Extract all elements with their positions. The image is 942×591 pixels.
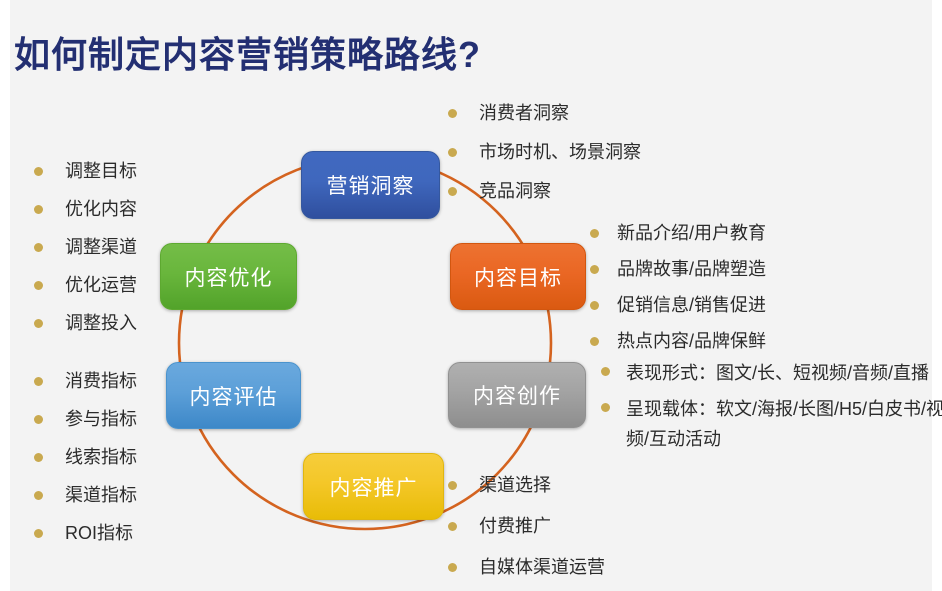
list-item: 线索指标 [34, 444, 137, 471]
list-item: 促销信息/销售促进 [590, 292, 766, 319]
list-marketing-insight: 消费者洞察 市场时机、场景洞察 竞品洞察 [448, 100, 641, 217]
list-item-label: 线索指标 [65, 444, 137, 471]
bullet-dot-icon [448, 522, 457, 531]
list-item: 自媒体渠道运营 [448, 554, 605, 581]
list-item: 热点内容/品牌保鲜 [590, 328, 766, 355]
list-item-label: 市场时机、场景洞察 [479, 139, 641, 166]
list-item-label: 热点内容/品牌保鲜 [617, 328, 766, 355]
list-item: ROI指标 [34, 520, 137, 547]
list-item-label: 渠道指标 [65, 482, 137, 509]
bullet-dot-icon [601, 367, 610, 376]
list-item: 呈现载体：软文/海报/长图/H5/白皮书/视频/互动活动 [601, 394, 942, 454]
list-content-creation: 表现形式：图文/长、短视频/音频/直播 呈现载体：软文/海报/长图/H5/白皮书… [601, 358, 942, 460]
list-item: 调整投入 [34, 310, 137, 337]
list-item: 市场时机、场景洞察 [448, 139, 641, 166]
bullet-dot-icon [601, 403, 610, 412]
left-edge-gutter [0, 0, 10, 591]
bullet-dot-icon [34, 377, 43, 386]
bullet-dot-icon [34, 529, 43, 538]
list-item-label: 调整目标 [65, 158, 137, 185]
list-item: 调整渠道 [34, 234, 137, 261]
node-label: 营销洞察 [327, 170, 415, 200]
node-label: 内容优化 [185, 262, 273, 292]
list-item-label: 促销信息/销售促进 [617, 292, 766, 319]
list-item-label: 优化内容 [65, 196, 137, 223]
list-item: 优化运营 [34, 272, 137, 299]
node-content-goal[interactable]: 内容目标 [450, 243, 586, 310]
list-item-label: 新品介绍/用户教育 [617, 220, 766, 247]
list-content-optimization: 调整目标 优化内容 调整渠道 优化运营 调整投入 [34, 158, 137, 348]
list-content-evaluation: 消费指标 参与指标 线索指标 渠道指标 ROI指标 [34, 368, 137, 558]
list-item-label: 优化运营 [65, 272, 137, 299]
bullet-dot-icon [590, 337, 599, 346]
list-item-label: 自媒体渠道运营 [479, 554, 605, 581]
list-item-label: 调整渠道 [65, 234, 137, 261]
list-item: 付费推广 [448, 513, 605, 540]
list-item-label: 参与指标 [65, 406, 137, 433]
page-title: 如何制定内容营销策略路线? [14, 26, 481, 78]
list-item: 竞品洞察 [448, 178, 641, 205]
list-item-label: 消费指标 [65, 368, 137, 395]
list-item-label: 表现形式：图文/长、短视频/音频/直播 [626, 358, 942, 388]
bullet-dot-icon [34, 415, 43, 424]
node-label: 内容推广 [330, 472, 418, 502]
right-edge-gutter [932, 0, 942, 591]
list-item-label: 付费推广 [479, 513, 551, 540]
list-item-label: 调整投入 [65, 310, 137, 337]
node-content-evaluation[interactable]: 内容评估 [166, 362, 301, 429]
list-item: 调整目标 [34, 158, 137, 185]
bullet-dot-icon [448, 481, 457, 490]
list-item: 消费者洞察 [448, 100, 641, 127]
list-item: 品牌故事/品牌塑造 [590, 256, 766, 283]
bullet-dot-icon [448, 563, 457, 572]
list-content-promotion: 渠道选择 付费推广 自媒体渠道运营 [448, 472, 605, 591]
list-item: 消费指标 [34, 368, 137, 395]
list-item: 渠道指标 [34, 482, 137, 509]
slide-canvas: 如何制定内容营销策略路线? 营销洞察 内容目标 内容创作 内容推广 内容评估 内… [0, 0, 942, 591]
node-label: 内容评估 [190, 381, 278, 411]
bullet-dot-icon [34, 491, 43, 500]
bullet-dot-icon [590, 301, 599, 310]
list-item-label: 品牌故事/品牌塑造 [617, 256, 766, 283]
bullet-dot-icon [590, 265, 599, 274]
list-item-label: 竞品洞察 [479, 178, 551, 205]
bullet-dot-icon [590, 229, 599, 238]
node-content-creation[interactable]: 内容创作 [448, 362, 586, 428]
bullet-dot-icon [34, 281, 43, 290]
list-item: 参与指标 [34, 406, 137, 433]
node-content-optimization[interactable]: 内容优化 [160, 243, 297, 310]
bullet-dot-icon [448, 187, 457, 196]
bullet-dot-icon [448, 148, 457, 157]
node-marketing-insight[interactable]: 营销洞察 [301, 151, 440, 219]
list-item-label: ROI指标 [65, 520, 133, 547]
list-item: 表现形式：图文/长、短视频/音频/直播 [601, 358, 942, 388]
bullet-dot-icon [34, 453, 43, 462]
list-item: 新品介绍/用户教育 [590, 220, 766, 247]
list-item-label: 消费者洞察 [479, 100, 569, 127]
bullet-dot-icon [34, 319, 43, 328]
bullet-dot-icon [34, 205, 43, 214]
list-item: 优化内容 [34, 196, 137, 223]
node-label: 内容创作 [473, 380, 561, 410]
list-item: 渠道选择 [448, 472, 605, 499]
bullet-dot-icon [448, 109, 457, 118]
list-item-label: 渠道选择 [479, 472, 551, 499]
bullet-dot-icon [34, 167, 43, 176]
list-item-label: 呈现载体：软文/海报/长图/H5/白皮书/视频/互动活动 [626, 394, 942, 454]
bullet-dot-icon [34, 243, 43, 252]
list-content-goal: 新品介绍/用户教育 品牌故事/品牌塑造 促销信息/销售促进 热点内容/品牌保鲜 [590, 220, 766, 364]
node-content-promotion[interactable]: 内容推广 [303, 453, 444, 520]
node-label: 内容目标 [474, 262, 562, 292]
